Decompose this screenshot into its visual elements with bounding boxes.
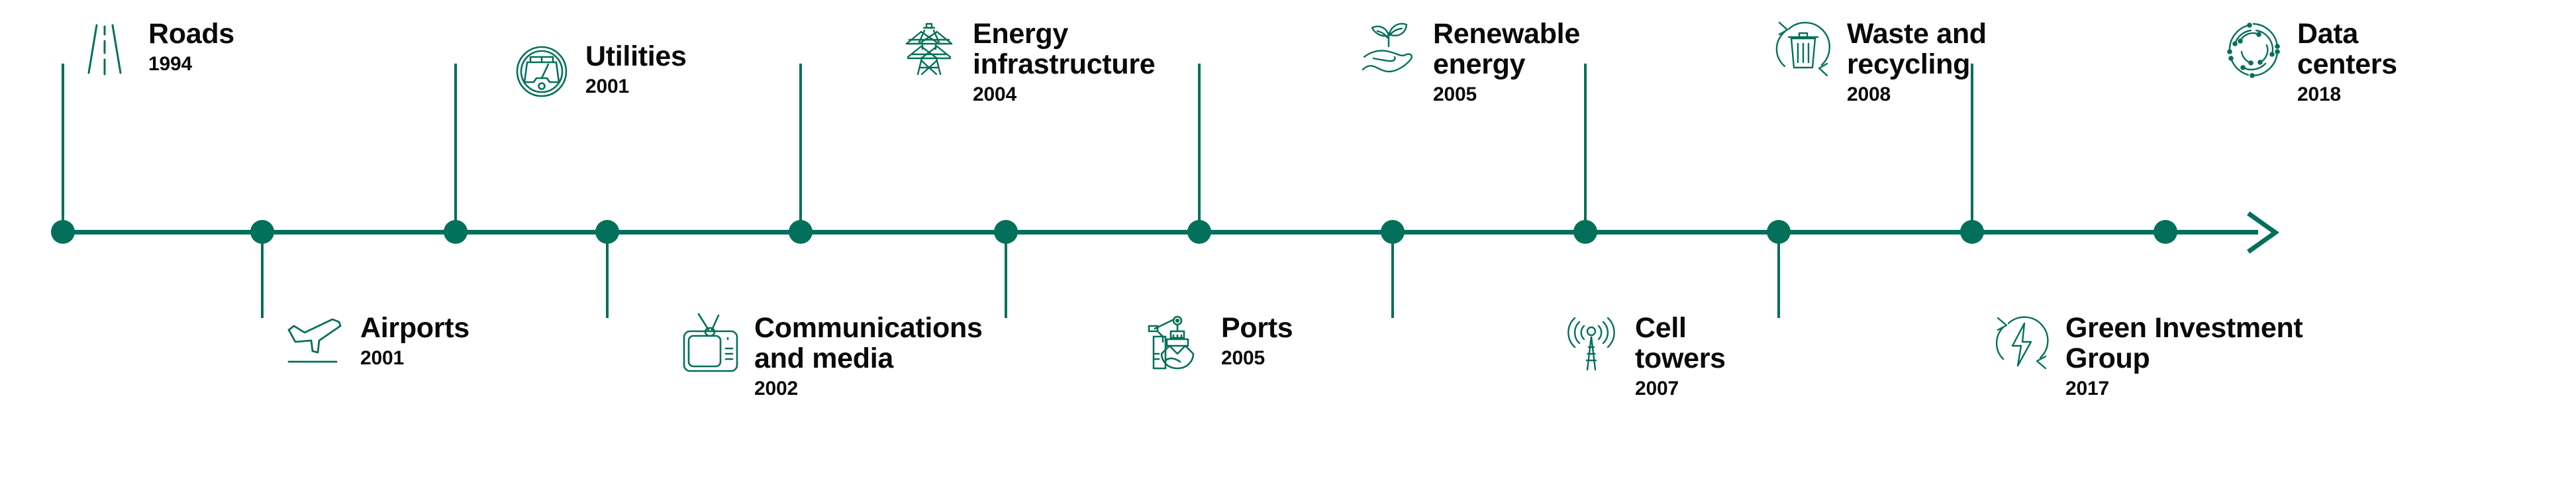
item-title: Roads [148, 19, 234, 49]
item-title: Utilities [585, 41, 687, 72]
gauge-icon [510, 40, 573, 103]
port-crane-icon [1146, 311, 1209, 375]
timeline-node-stem [799, 64, 802, 232]
recycle-bin-icon [1771, 17, 1835, 81]
item-title: Ports [1221, 313, 1293, 343]
timeline-item-communications-media[interactable]: Communications and media 2002 [679, 311, 983, 400]
item-year: 1994 [148, 53, 234, 76]
timeline-node-stem [454, 64, 457, 232]
timeline-node-stem [62, 64, 64, 232]
item-year: 2007 [1635, 378, 1726, 400]
item-title: Data centers [2297, 19, 2397, 79]
timeline-node-stem [1777, 232, 1780, 318]
energy-cycle-icon [1990, 311, 2054, 375]
timeline-item-airports[interactable]: Airports 2001 [285, 311, 470, 375]
timeline-item-data-centers[interactable]: Data centers 2018 [2222, 17, 2397, 106]
timeline-node-stem [1391, 232, 1394, 318]
item-year: 2018 [2297, 83, 2397, 106]
timeline-item-ports[interactable]: Ports 2005 [1146, 311, 1293, 375]
timeline-node-stem [261, 232, 264, 318]
item-year: 2001 [360, 347, 470, 370]
timeline-node-stem [1198, 64, 1201, 232]
item-title: Airports [360, 313, 470, 343]
timeline-item-cell-towers[interactable]: Cell towers 2007 [1560, 311, 1726, 400]
timeline-infographic: Roads 1994 Utilities 2001 [0, 0, 2576, 477]
item-year: 2008 [1847, 83, 1987, 106]
item-title: Renewable energy [1433, 19, 1580, 79]
timeline-axis [53, 230, 2258, 235]
timeline-item-utilities[interactable]: Utilities 2001 [510, 40, 687, 103]
timeline-item-waste-recycling[interactable]: Waste and recycling 2008 [1771, 17, 1987, 106]
item-title: Cell towers [1635, 313, 1726, 374]
timeline-node-dot[interactable] [2154, 220, 2177, 244]
timeline-item-renewable-energy[interactable]: Renewable energy 2005 [1358, 17, 1580, 106]
item-year: 2005 [1433, 83, 1580, 106]
sprout-hand-icon [1358, 17, 1421, 81]
television-icon [679, 311, 742, 375]
item-title: Green Investment Group [2065, 313, 2303, 374]
cell-tower-icon [1560, 311, 1623, 375]
pylon-icon [897, 17, 961, 81]
timeline-node-stem [1584, 64, 1587, 232]
road-icon [73, 17, 136, 81]
timeline-arrow-icon [2246, 211, 2293, 254]
timeline-node-stem [1005, 232, 1007, 318]
item-title: Energy infrastructure [973, 19, 1155, 79]
airplane-icon [285, 311, 348, 375]
item-year: 2002 [754, 378, 983, 400]
item-year: 2017 [2065, 378, 2303, 400]
timeline-item-green-investment-group[interactable]: Green Investment Group 2017 [1990, 311, 2303, 400]
timeline-node-stem [606, 232, 609, 318]
timeline-item-energy-infrastructure[interactable]: Energy infrastructure 2004 [897, 17, 1155, 106]
data-rings-icon [2222, 17, 2285, 81]
item-year: 2001 [585, 76, 687, 98]
item-year: 2005 [1221, 347, 1293, 370]
timeline-item-roads[interactable]: Roads 1994 [73, 17, 234, 81]
item-year: 2004 [973, 83, 1155, 106]
item-title: Waste and recycling [1847, 19, 1987, 79]
item-title: Communications and media [754, 313, 983, 374]
